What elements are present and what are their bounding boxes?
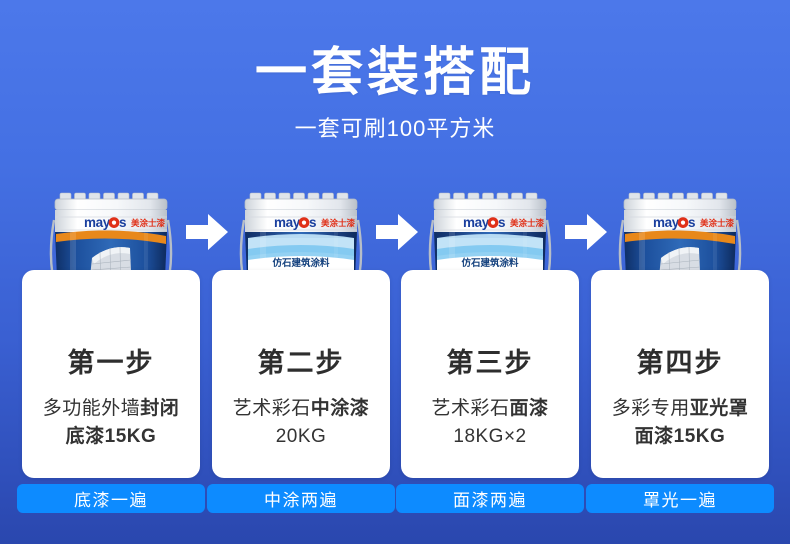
step-card-body-4: 第四步 多彩专用亚光罩 面漆15KG (591, 350, 769, 450)
step-card-body-3: 第三步 艺术彩石面漆 18KG×2 (401, 350, 579, 450)
step-desc-line2-2: 20KG (218, 423, 384, 451)
step-name-3: 第三步 (407, 350, 573, 377)
step-description-2: 艺术彩石中涂漆 20KG (218, 395, 384, 450)
step-desc-line2-normal-2: 20KG (276, 426, 327, 447)
step-desc-line1-normal-4: 多彩专用 (612, 398, 690, 419)
step-name-1: 第一步 (28, 350, 194, 377)
step-pill-4[interactable]: 罩光一遍 (586, 484, 774, 513)
step-card-body-2: 第二步 艺术彩石中涂漆 20KG (212, 350, 390, 450)
step-1[interactable]: may s 美涂士漆 (17, 186, 195, 516)
step-card-4[interactable]: 第四步 多彩专用亚光罩 面漆15KG (591, 270, 769, 478)
step-2[interactable]: may s 美涂士漆 仿石建筑涂料 Stone- (207, 186, 385, 516)
step-description-3: 艺术彩石面漆 18KG×2 (407, 395, 573, 450)
svg-text:美涂士漆: 美涂士漆 (700, 218, 735, 229)
step-desc-line1-bold-1: 封闭 (140, 398, 179, 419)
svg-text:s: s (688, 215, 695, 230)
step-desc-line2-4: 面漆15KG (597, 423, 763, 451)
step-desc-line2-bold-1: 底漆15KG (66, 426, 157, 447)
step-desc-line1-bold-4: 亚光罩 (690, 398, 749, 419)
step-description-1: 多功能外墙封闭 底漆15KG (28, 395, 194, 450)
step-desc-line1-2: 艺术彩石中涂漆 (218, 395, 384, 423)
step-desc-line1-normal-2: 艺术彩石 (233, 398, 311, 419)
step-desc-line1-normal-3: 艺术彩石 (431, 398, 509, 419)
svg-text:s: s (309, 215, 316, 230)
step-4[interactable]: may s 美涂士漆 (586, 186, 764, 516)
step-card-2[interactable]: 第二步 艺术彩石中涂漆 20KG (212, 270, 390, 478)
step-desc-line1-bold-3: 面漆 (510, 398, 549, 419)
step-card-3[interactable]: 第三步 艺术彩石面漆 18KG×2 (401, 270, 579, 478)
step-desc-line2-1: 底漆15KG (28, 423, 194, 451)
step-desc-line1-normal-1: 多功能外墙 (43, 398, 141, 419)
svg-text:may: may (274, 215, 301, 230)
svg-text:may: may (653, 215, 680, 230)
svg-text:美涂士漆: 美涂士漆 (131, 218, 166, 229)
step-desc-line2-normal-3: 18KG×2 (453, 426, 526, 447)
svg-text:s: s (119, 215, 126, 230)
steps-container: may s 美涂士漆 (0, 186, 790, 544)
svg-text:美涂士漆: 美涂士漆 (321, 218, 356, 229)
arrow-3-to-4-icon (565, 212, 607, 252)
step-card-body-1: 第一步 多功能外墙封闭 底漆15KG (22, 350, 200, 450)
svg-text:美涂士漆: 美涂士漆 (510, 218, 545, 229)
header: 一套装搭配 一套可刷100平方米 (0, 0, 790, 140)
step-pill-2[interactable]: 中涂两遍 (207, 484, 395, 513)
step-desc-line2-bold-4: 面漆15KG (635, 426, 726, 447)
page-title: 一套装搭配 (0, 47, 790, 99)
svg-text:may: may (463, 215, 490, 230)
arrow-2-to-3-icon (376, 212, 418, 252)
step-card-1[interactable]: 第一步 多功能外墙封闭 底漆15KG (22, 270, 200, 478)
step-desc-line1-bold-2: 中涂漆 (311, 398, 370, 419)
svg-text:may: may (84, 215, 111, 230)
svg-text:仿石建筑涂料: 仿石建筑涂料 (461, 257, 519, 269)
step-name-4: 第四步 (597, 350, 763, 377)
step-pill-1[interactable]: 底漆一遍 (17, 484, 205, 513)
step-desc-line1-1: 多功能外墙封闭 (28, 395, 194, 423)
step-desc-line2-3: 18KG×2 (407, 423, 573, 451)
step-desc-line1-4: 多彩专用亚光罩 (597, 395, 763, 423)
arrow-1-to-2-icon (186, 212, 228, 252)
svg-text:仿石建筑涂料: 仿石建筑涂料 (272, 257, 330, 269)
step-description-4: 多彩专用亚光罩 面漆15KG (597, 395, 763, 450)
step-desc-line1-3: 艺术彩石面漆 (407, 395, 573, 423)
step-pill-3[interactable]: 面漆两遍 (396, 484, 584, 513)
step-name-2: 第二步 (218, 350, 384, 377)
step-3[interactable]: may s 美涂士漆 仿石建筑涂料 Stone- (396, 186, 574, 516)
page-subtitle: 一套可刷100平方米 (0, 118, 790, 140)
svg-text:s: s (498, 215, 505, 230)
